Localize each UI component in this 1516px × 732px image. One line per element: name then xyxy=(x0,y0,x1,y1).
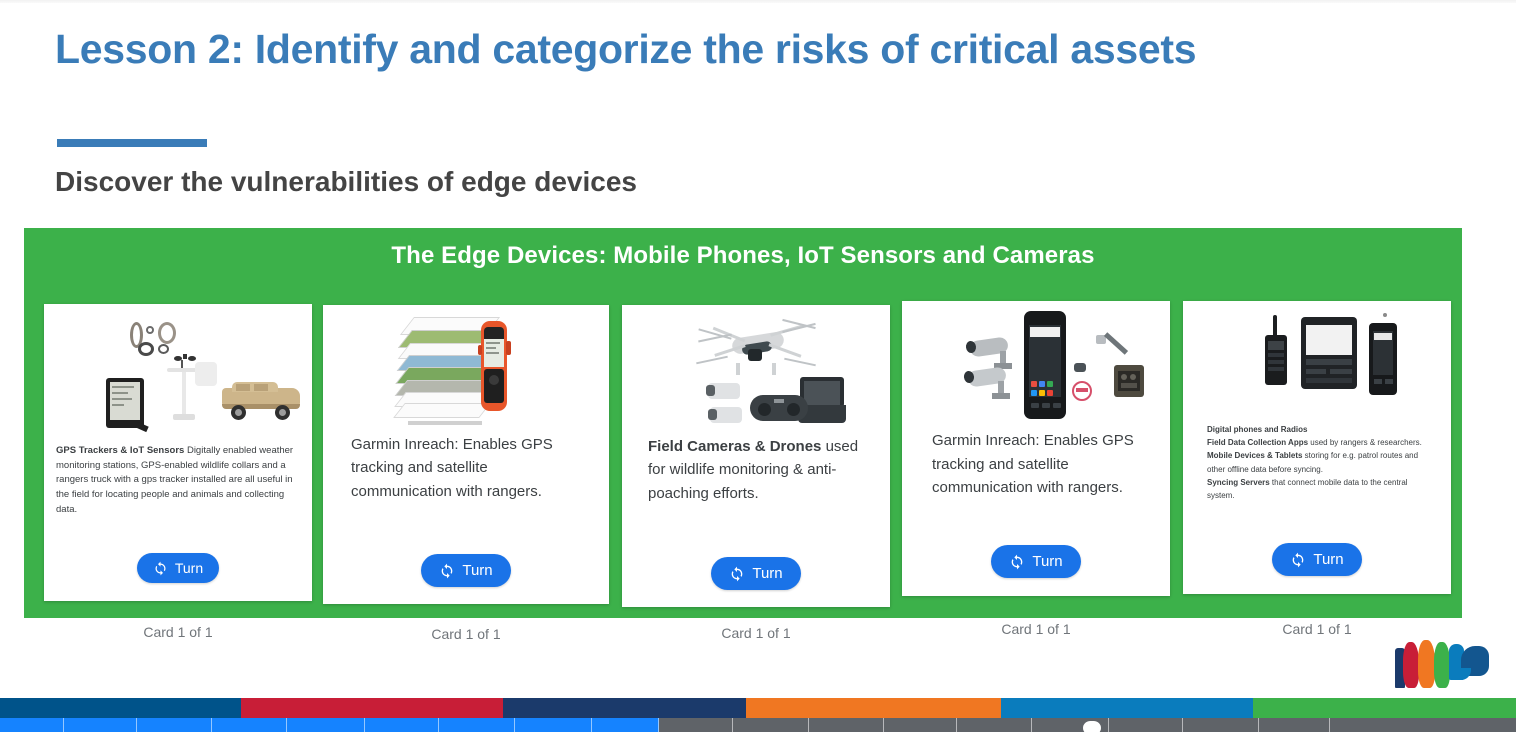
card-description-cameras-phone: Garmin Inreach: Enables GPS tracking and… xyxy=(932,429,1140,500)
progress-segment-done xyxy=(0,718,64,732)
card-title-gps: GPS Trackers & IoT Sensors xyxy=(56,445,184,456)
progress-segment-done xyxy=(287,718,365,732)
progress-segment-todo xyxy=(1183,718,1259,732)
card-caption-garmin-maps: Card 1 of 1 xyxy=(323,626,609,642)
card-body-radios: Digital phones and Radios Field Data Col… xyxy=(1183,423,1451,543)
progress-segment-todo xyxy=(957,718,1032,732)
turn-button-drone[interactable]: Turn xyxy=(711,557,800,590)
card-description-garmin-maps: Garmin Inreach: Enables GPS tracking and… xyxy=(351,433,581,503)
card-caption-cameras-phone: Card 1 of 1 xyxy=(902,621,1170,637)
card-body-garmin-maps: Garmin Inreach: Enables GPS tracking and… xyxy=(323,433,609,554)
card-garmin-inreach-maps[interactable]: Garmin Inreach: Enables GPS tracking and… xyxy=(323,305,609,604)
progress-segment-todo xyxy=(1259,718,1330,732)
refresh-icon xyxy=(153,561,168,576)
turn-button-label-gps: Turn xyxy=(175,560,203,576)
card-image-gps xyxy=(44,304,312,444)
card-body-gps: GPS Trackers & IoT Sensors Digitally ena… xyxy=(44,444,312,553)
card-image-cameras-phone xyxy=(902,301,1170,429)
card-body-cameras-phone: Garmin Inreach: Enables GPS tracking and… xyxy=(902,429,1170,545)
turn-button-label-drone: Turn xyxy=(752,565,782,582)
progress-segment-todo xyxy=(733,718,809,732)
top-divider xyxy=(0,0,1516,3)
turn-button-garmin-maps[interactable]: Turn xyxy=(421,554,510,587)
card-image-radio-tablet xyxy=(1183,301,1451,423)
card-title-drone: Field Cameras & Drones xyxy=(648,438,821,455)
card-image-garmin-maps xyxy=(323,305,609,433)
card-line-mobile-devices: Mobile Devices & Tablets storing for e.g… xyxy=(1207,449,1427,475)
turn-button-gps[interactable]: Turn xyxy=(137,553,219,583)
card-digital-phones-radios[interactable]: Digital phones and Radios Field Data Col… xyxy=(1183,301,1451,594)
panel-heading: The Edge Devices: Mobile Phones, IoT Sen… xyxy=(24,228,1462,284)
turn-button-label-radios: Turn xyxy=(1313,551,1343,568)
section-title: Discover the vulnerabilities of edge dev… xyxy=(55,166,637,198)
turn-button-label-garmin-maps: Turn xyxy=(462,562,492,579)
progress-knob[interactable] xyxy=(1083,721,1101,732)
card-garmin-inreach-cameras[interactable]: Garmin Inreach: Enables GPS tracking and… xyxy=(902,301,1170,596)
refresh-icon xyxy=(1009,554,1025,570)
progress-segment-done xyxy=(137,718,212,732)
refresh-icon xyxy=(1290,552,1306,568)
rhino-logo xyxy=(1393,638,1493,690)
progress-segment-todo xyxy=(884,718,957,732)
color-band xyxy=(0,698,1516,718)
card-field-cameras-drones[interactable]: Field Cameras & Drones used for wildlife… xyxy=(622,305,890,607)
accent-bar xyxy=(57,139,207,147)
card-line-field-data: Field Data Collection Apps used by range… xyxy=(1207,436,1427,449)
progress-segment-todo xyxy=(1109,718,1183,732)
progress-bar[interactable] xyxy=(0,718,1516,732)
progress-segment-done xyxy=(365,718,439,732)
card-gps-trackers-iot-sensors[interactable]: GPS Trackers & IoT Sensors Digitally ena… xyxy=(44,304,312,601)
band-segment-crimson xyxy=(241,698,503,718)
refresh-icon xyxy=(729,566,745,582)
progress-segment-done xyxy=(439,718,515,732)
band-segment-green xyxy=(1253,698,1516,718)
progress-segment-done xyxy=(64,718,137,732)
band-segment-orange xyxy=(746,698,1001,718)
progress-segment-done xyxy=(212,718,287,732)
card-title-radios: Digital phones and Radios xyxy=(1207,425,1307,434)
progress-segment-todo xyxy=(809,718,884,732)
page-title: Lesson 2: Identify and categorize the ri… xyxy=(55,26,1196,73)
card-caption-radios: Card 1 of 1 xyxy=(1183,621,1451,637)
refresh-icon xyxy=(439,563,455,579)
turn-button-label-cameras-phone: Turn xyxy=(1032,553,1062,570)
turn-button-radios[interactable]: Turn xyxy=(1272,543,1361,576)
progress-segment-done xyxy=(592,718,659,732)
card-line-syncing-servers: Syncing Servers that connect mobile data… xyxy=(1207,476,1427,502)
card-caption-gps: Card 1 of 1 xyxy=(44,624,312,640)
card-body-drone: Field Cameras & Drones used for wildlife… xyxy=(622,435,890,557)
band-segment-blue xyxy=(1001,698,1253,718)
slide-page: Lesson 2: Identify and categorize the ri… xyxy=(0,0,1516,732)
progress-segment-done xyxy=(515,718,592,732)
card-caption-drone: Card 1 of 1 xyxy=(622,625,890,641)
turn-button-cameras-phone[interactable]: Turn xyxy=(991,545,1080,578)
card-image-drone xyxy=(622,305,890,435)
progress-segment-todo xyxy=(659,718,733,732)
band-segment-navy-dark xyxy=(0,698,241,718)
band-segment-navy xyxy=(503,698,746,718)
